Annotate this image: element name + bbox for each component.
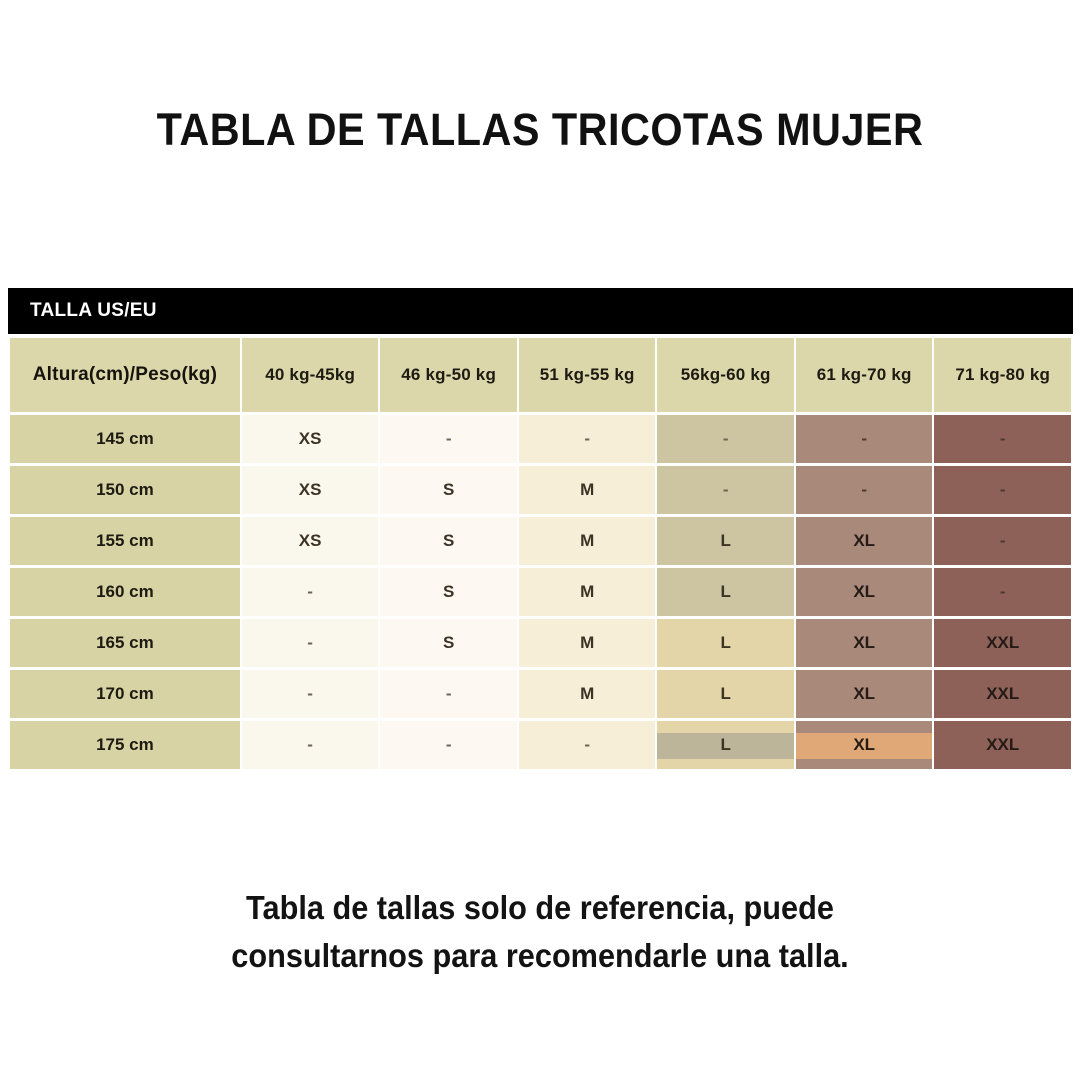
size-cell: S [380,619,517,667]
talla-banner: TALLA US/EU [8,288,1073,334]
size-cell: M [519,619,656,667]
size-value: - [1000,531,1006,550]
size-value: - [861,429,867,448]
row-height-label: 150 cm [10,466,240,514]
size-value: XXL [986,684,1019,703]
table-row: 155 cm XS S M L XL - [10,517,1071,565]
size-cell: - [934,517,1071,565]
size-cell: - [519,721,656,769]
size-value: L [720,735,730,754]
size-cell: L [657,568,794,616]
size-value: XL [853,735,875,754]
table-header-row: Altura(cm)/Peso(kg) 40 kg-45kg 46 kg-50 … [10,338,1071,412]
size-value: - [446,684,452,703]
size-value: XL [853,684,875,703]
size-cell: XXL [934,721,1071,769]
size-value: L [720,582,730,601]
table-row: 145 cm XS - - - - - [10,415,1071,463]
size-value: - [1000,480,1006,499]
size-cell: - [657,466,794,514]
size-value: - [307,582,313,601]
size-cell: M [519,466,656,514]
size-value: - [446,429,452,448]
size-cell: M [519,517,656,565]
table-row: 160 cm - S M L XL - [10,568,1071,616]
size-cell: - [242,619,379,667]
size-value: S [443,582,454,601]
size-table-container: TALLA US/EU Altura(cm)/Peso(kg) 40 kg-45… [8,288,1073,772]
size-value: XS [299,480,322,499]
size-value: M [580,582,594,601]
size-value: M [580,531,594,550]
header-weight-5: 61 kg-70 kg [796,338,933,412]
table-row: 165 cm - S M L XL XXL [10,619,1071,667]
size-value: M [580,480,594,499]
size-value: - [307,633,313,652]
size-cell: M [519,670,656,718]
size-value: - [1000,429,1006,448]
size-value: - [1000,582,1006,601]
size-cell: S [380,466,517,514]
size-value: - [584,735,590,754]
size-cell: XS [242,415,379,463]
header-altura-peso: Altura(cm)/Peso(kg) [10,338,240,412]
table-row: 175 cm - - - L XL XXL [10,721,1071,769]
size-cell: - [380,721,517,769]
size-value: - [584,429,590,448]
size-cell: M [519,568,656,616]
size-value: - [307,735,313,754]
row-height-label: 175 cm [10,721,240,769]
size-cell: - [380,415,517,463]
size-chart-page: TABLA DE TALLAS TRICOTAS MUJER TALLA US/… [0,0,1080,1080]
size-value: - [723,480,729,499]
caption-line-2: consultarnos para recomendarle una talla… [38,932,1042,980]
size-cell: - [796,466,933,514]
size-cell: - [519,415,656,463]
footer-caption: Tabla de tallas solo de referencia, pued… [38,884,1042,980]
size-cell: XL [796,619,933,667]
size-value: L [720,531,730,550]
row-height-label: 145 cm [10,415,240,463]
size-value: S [443,531,454,550]
size-cell: - [934,466,1071,514]
size-value: M [580,684,594,703]
size-cell-highlighted: L [657,721,794,769]
page-title: TABLA DE TALLAS TRICOTAS MUJER [43,104,1037,156]
size-cell: S [380,517,517,565]
size-value: L [720,684,730,703]
size-value: XL [853,633,875,652]
table-row: 170 cm - - M L XL XXL [10,670,1071,718]
size-cell: L [657,619,794,667]
size-cell: L [657,517,794,565]
size-cell: - [242,670,379,718]
size-cell: - [796,415,933,463]
size-value: S [443,480,454,499]
size-cell: S [380,568,517,616]
row-height-label: 170 cm [10,670,240,718]
size-value: XXL [986,735,1019,754]
size-cell: XS [242,517,379,565]
size-cell: XS [242,466,379,514]
size-cell: - [242,568,379,616]
header-weight-6: 71 kg-80 kg [934,338,1071,412]
size-cell: XXL [934,670,1071,718]
size-value: XL [853,531,875,550]
header-weight-1: 40 kg-45kg [242,338,379,412]
header-weight-2: 46 kg-50 kg [380,338,517,412]
size-value: XXL [986,633,1019,652]
size-cell: L [657,670,794,718]
caption-line-1: Tabla de tallas solo de referencia, pued… [38,884,1042,932]
size-value: XS [299,429,322,448]
size-cell-highlighted: XL [796,721,933,769]
size-value: S [443,633,454,652]
size-value: XS [299,531,322,550]
header-weight-4: 56kg-60 kg [657,338,794,412]
row-height-label: 165 cm [10,619,240,667]
size-value: - [861,480,867,499]
size-cell: - [380,670,517,718]
size-value: - [723,429,729,448]
size-value: M [580,633,594,652]
size-table: Altura(cm)/Peso(kg) 40 kg-45kg 46 kg-50 … [8,335,1073,772]
size-value: XL [853,582,875,601]
size-value: L [720,633,730,652]
size-value: - [307,684,313,703]
size-cell: XL [796,517,933,565]
size-cell: XL [796,568,933,616]
size-cell: - [657,415,794,463]
row-height-label: 155 cm [10,517,240,565]
talla-banner-label: TALLA US/EU [30,300,157,322]
size-value: - [446,735,452,754]
size-cell: XL [796,670,933,718]
header-weight-3: 51 kg-55 kg [519,338,656,412]
size-cell: - [934,568,1071,616]
size-cell: - [242,721,379,769]
row-height-label: 160 cm [10,568,240,616]
table-row: 150 cm XS S M - - - [10,466,1071,514]
size-cell: - [934,415,1071,463]
size-cell: XXL [934,619,1071,667]
